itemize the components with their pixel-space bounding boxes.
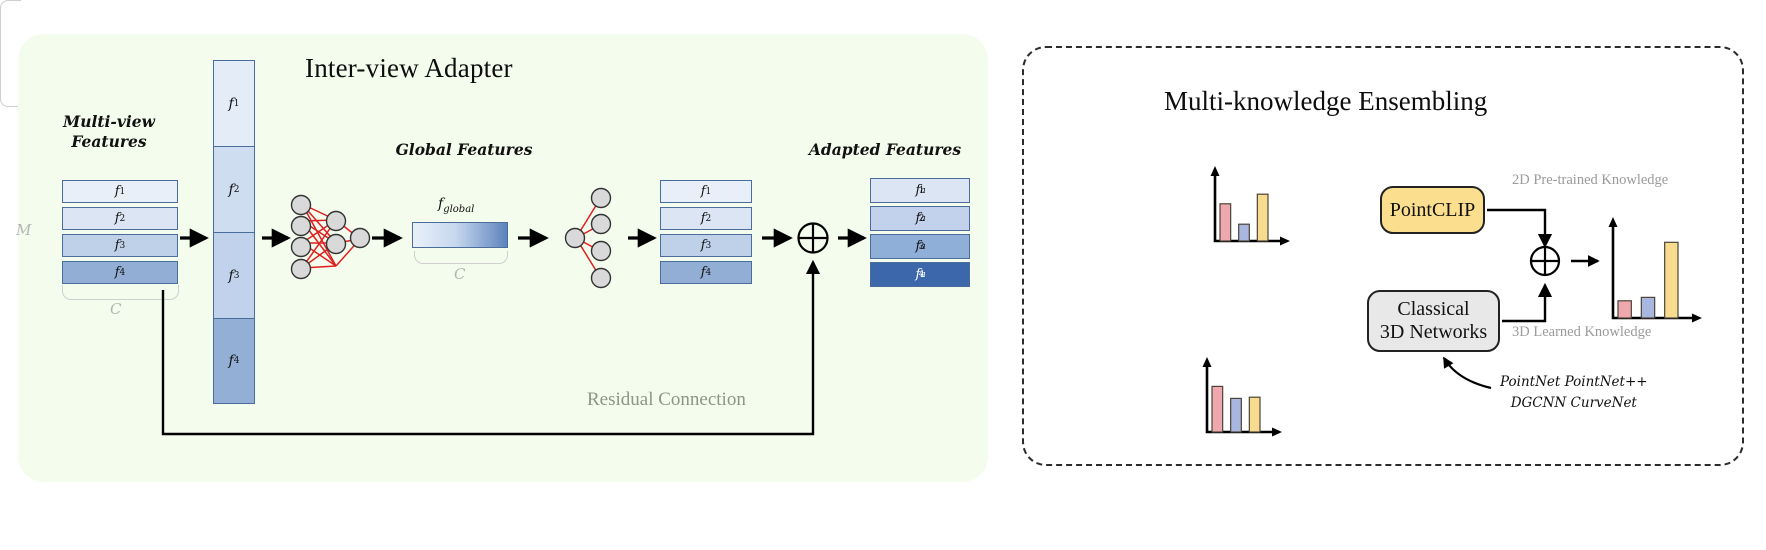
- feature-index: 4: [234, 356, 240, 366]
- residual-connection-label: Residual Connection: [587, 389, 746, 411]
- dimension-brace-c: [62, 285, 179, 300]
- dimension-label-c: C: [110, 300, 121, 318]
- concat-feature-cell-3: f3: [213, 232, 255, 318]
- feature-index: 1: [706, 187, 712, 197]
- feature-index: 3: [919, 242, 925, 252]
- output-feature-block-2: f2: [660, 207, 752, 230]
- multiview-feature-block-1: f1: [62, 180, 178, 203]
- adapted-feature-block-4: fa4: [870, 262, 970, 287]
- global-feature-bar: [412, 222, 508, 248]
- output-feature-block-3: f3: [660, 234, 752, 257]
- output-feature-stack: f1f2f3f4: [660, 180, 752, 288]
- multi-view-features-label: Multi-view Features: [44, 112, 174, 153]
- adapted-feature-block-1: fa1: [870, 178, 970, 203]
- pointclip-box[interactable]: PointCLIP: [1380, 186, 1485, 234]
- multiview-feature-block-3: f3: [62, 234, 178, 257]
- feature-index: 4: [919, 270, 925, 280]
- inter-view-adapter-title: Inter-view Adapter: [305, 53, 513, 84]
- output-feature-block-4: f4: [660, 261, 752, 284]
- feature-index: 2: [706, 214, 712, 224]
- feature-index: 1: [919, 186, 925, 196]
- multiview-feature-block-4: f4: [62, 261, 178, 284]
- feature-index: 1: [120, 187, 126, 197]
- feature-index: 2: [120, 214, 126, 224]
- feature-index: 3: [706, 241, 712, 251]
- concat-feature-cell-1: f1: [213, 60, 255, 146]
- adapted-feature-block-3: fa3: [870, 234, 970, 259]
- feature-index: 3: [234, 271, 240, 281]
- classical-3d-networks-box[interactable]: Classical 3D Networks: [1367, 290, 1500, 352]
- feature-index: 3: [120, 241, 126, 251]
- dimension-brace-c2: [414, 251, 508, 264]
- adapted-feature-stack: fa1fa2fa3fa4: [870, 178, 970, 290]
- feature-index: 4: [120, 268, 126, 278]
- adapted-feature-block-2: fa2: [870, 206, 970, 231]
- multi-view-feature-stack: f1f2f3f4: [62, 180, 178, 288]
- feature-index: 2: [919, 214, 925, 224]
- concat-feature-cell-4: f4: [213, 318, 255, 404]
- knowledge-2d-label: 2D Pre-trained Knowledge: [1512, 172, 1668, 189]
- output-feature-block-1: f1: [660, 180, 752, 203]
- adapted-features-label: Adapted Features: [800, 140, 970, 160]
- feature-index: 2: [234, 185, 240, 195]
- concatenated-feature-strip: f1f2f3f4: [213, 60, 255, 404]
- global-features-label: Global Features: [394, 140, 534, 160]
- concat-feature-cell-2: f2: [213, 146, 255, 232]
- knowledge-3d-label: 3D Learned Knowledge: [1512, 324, 1651, 341]
- multi-knowledge-ensembling-title: Multi-knowledge Ensembling: [1164, 86, 1487, 117]
- multiview-feature-block-2: f2: [62, 207, 178, 230]
- dimension-label-m: M: [16, 221, 31, 239]
- feature-index: 1: [234, 99, 240, 109]
- model-names-list: PointNet PointNet++ DGCNN CurveNet: [1500, 372, 1648, 414]
- dimension-label-c2: C: [454, 265, 465, 283]
- feature-index: 4: [706, 268, 712, 278]
- f-global-label: fglobal: [438, 196, 474, 215]
